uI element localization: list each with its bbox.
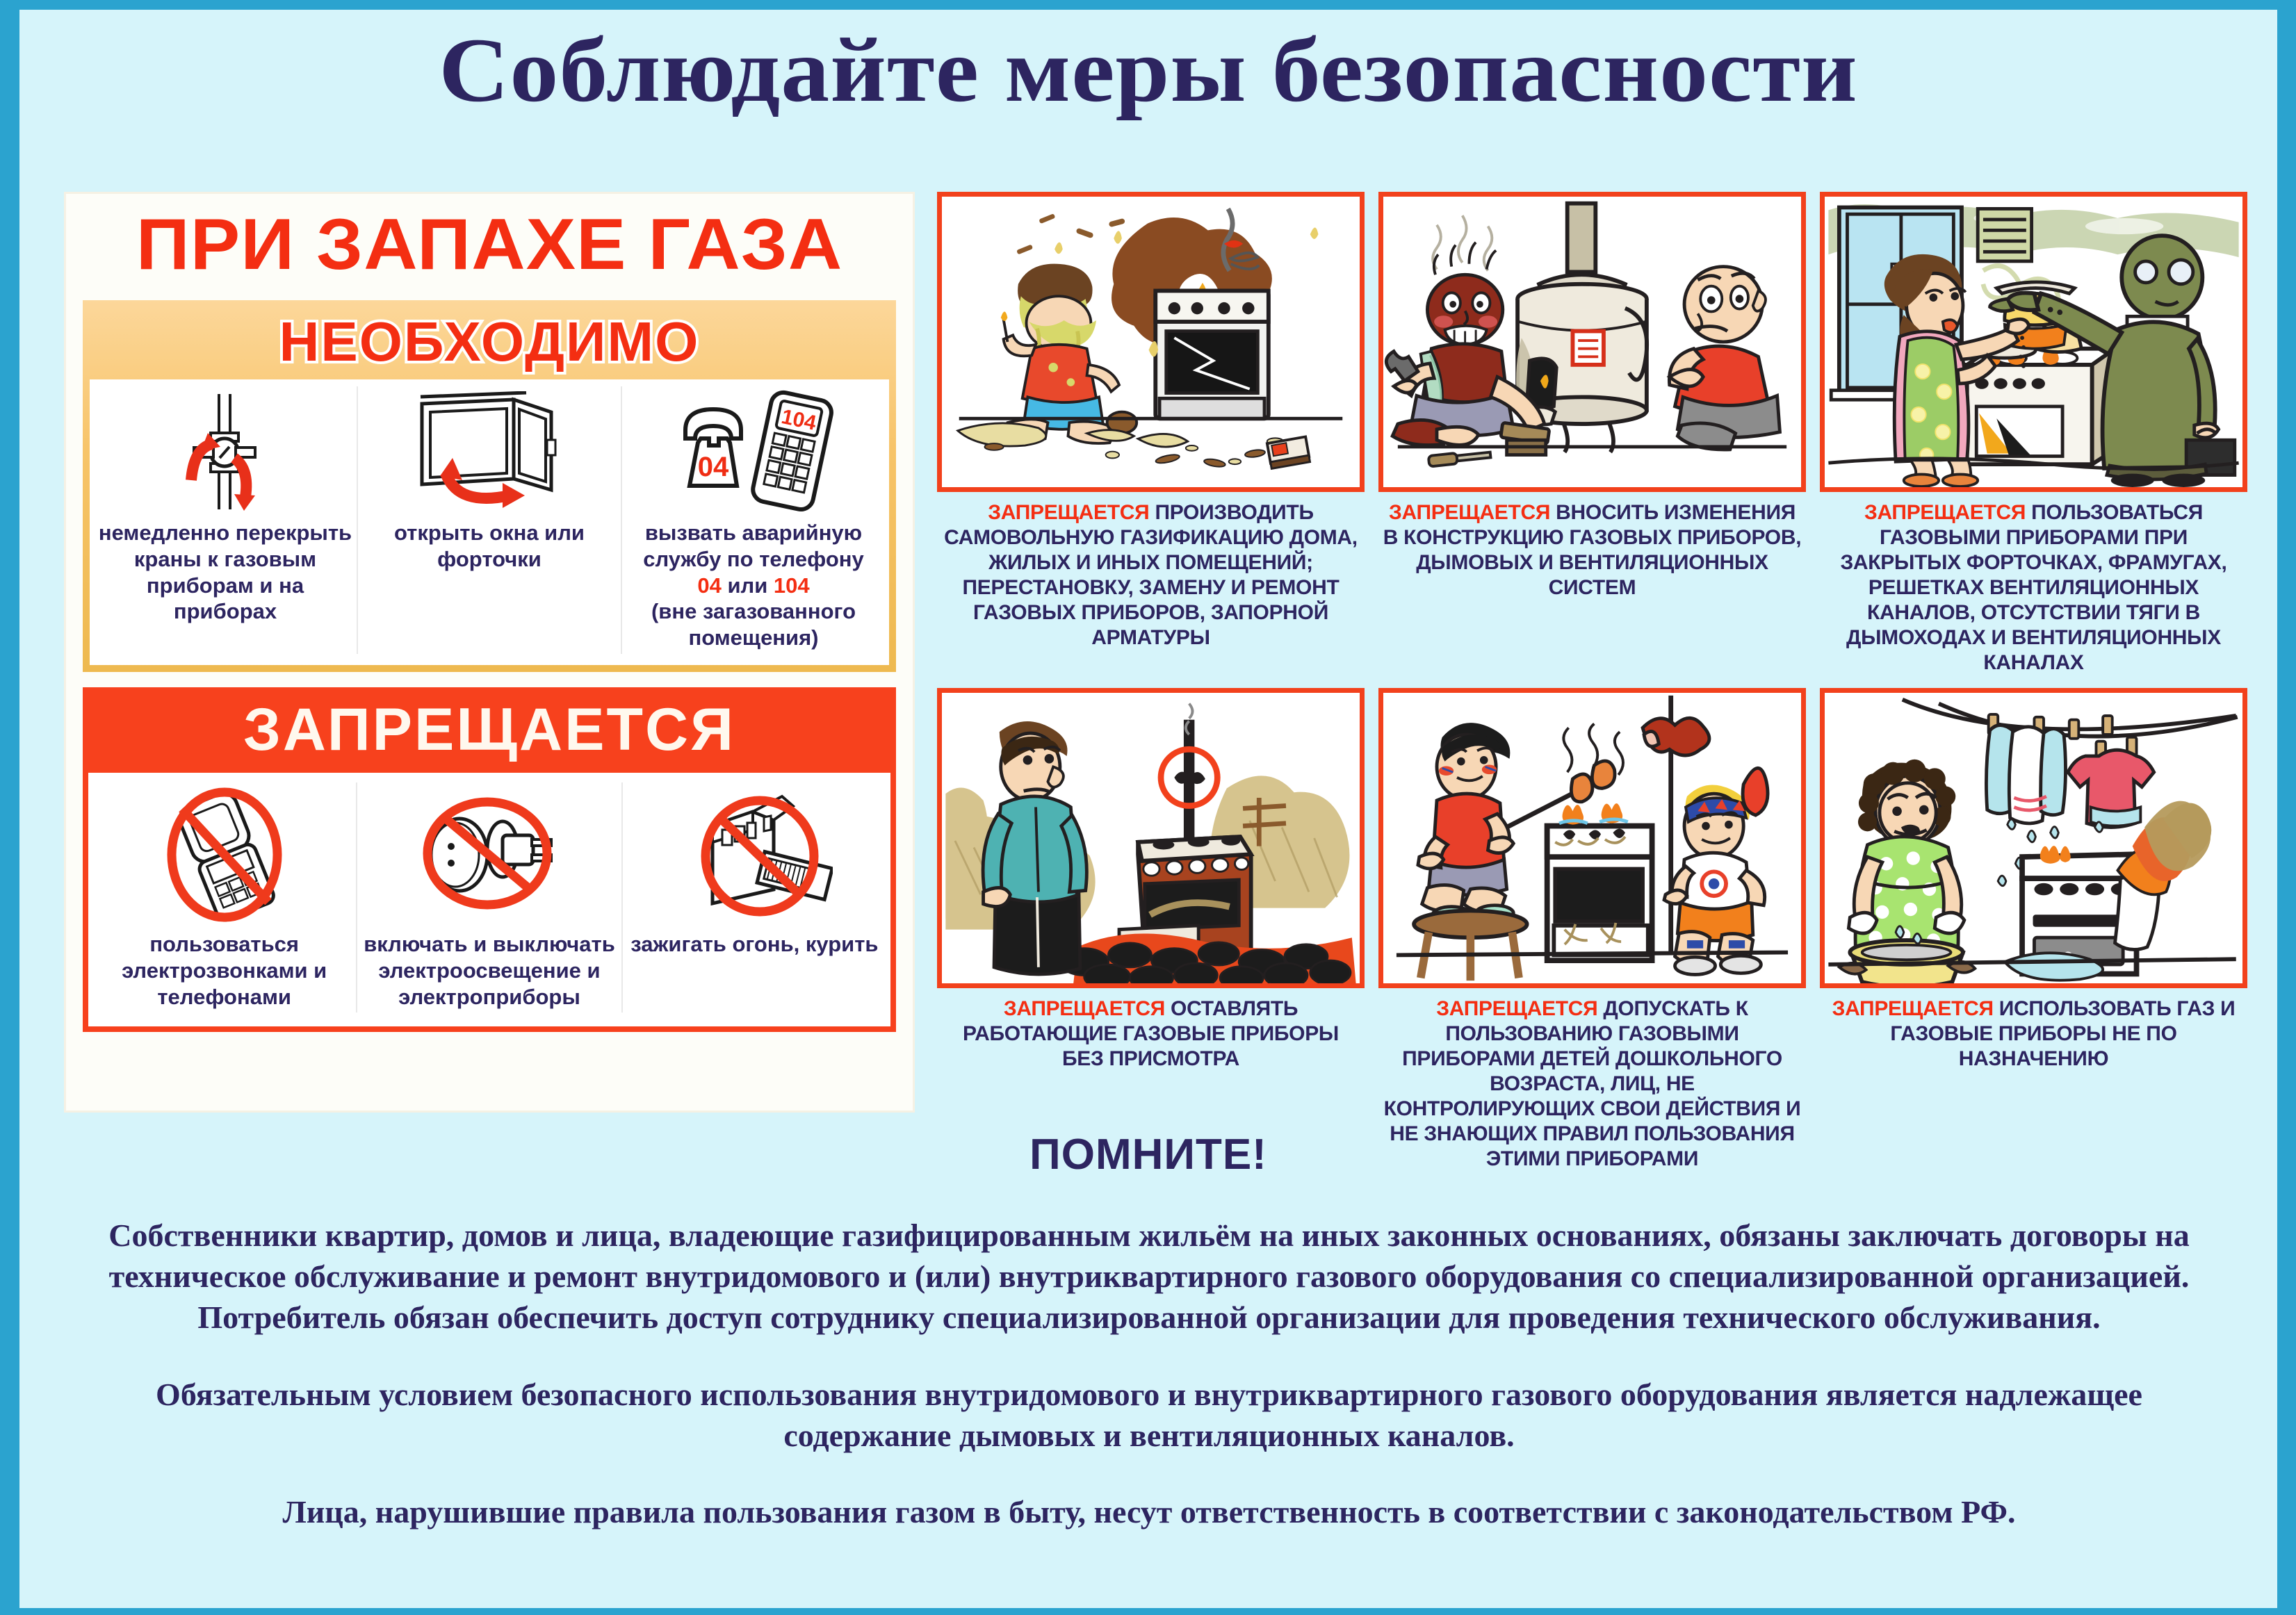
forbidden-keyword: ЗАПРЕЩАЕТСЯ — [1004, 997, 1165, 1020]
man-in-ruins-burnt-stove-illustration — [937, 688, 1365, 988]
no-fire-smoking-icon — [676, 785, 833, 924]
cartoon-caption: ЗАПРЕЩАЕТСЯ ОСТАВЛЯТЬ РАБОТАЮЩИЕ ГАЗОВЫЕ… — [941, 997, 1360, 1072]
woman-cooking-closed-vent-gasmask-man-illustration — [1820, 192, 2247, 492]
angry-man-repairing-boiler-illustration — [1378, 192, 1806, 492]
footer-paragraph-2: Обязательным условием безопасного исполь… — [82, 1375, 2216, 1457]
cartoon-caption: ЗАПРЕЩАЕТСЯ ИСПОЛЬЗОВАТЬ ГАЗ И ГАЗОВЫЕ П… — [1824, 997, 2243, 1072]
cartoon-cell: ЗАПРЕЩАЕТСЯ ПОЛЬЗОВАТЬСЯ ГАЗОВЫМИ ПРИБОР… — [1813, 192, 2254, 688]
emergency-number-04: 04 — [697, 573, 721, 598]
footer-text-block: Собственники квартир, домов и лица, влад… — [82, 1215, 2216, 1569]
forbidden-keyword: ЗАПРЕЩАЕТСЯ — [1832, 997, 1994, 1020]
necessary-item-caption: немедленно перекрыть краны к газовым при… — [98, 520, 352, 625]
forbidden-item-caption: зажигать огонь, курить — [630, 931, 878, 958]
necessary-item-caption: вызвать аварийную службу по телефону 04 … — [626, 520, 881, 651]
safety-poster: Соблюдайте меры безопасности ПРИ ЗАПАХЕ … — [19, 10, 2277, 1608]
forbidden-items-row: пользоваться электрозвонками и телефонам… — [88, 773, 890, 1026]
boy-with-match-exploded-stove-illustration — [937, 192, 1365, 492]
necessary-item-call-emergency: 04 104 — [622, 386, 885, 654]
cartoon-cell: ЗАПРЕЩАЕТСЯ ОСТАВЛЯТЬ РАБОТАЮЩИЕ ГАЗОВЫЕ… — [930, 688, 1371, 1184]
forbidden-keyword: ЗАПРЕЩАЕТСЯ — [988, 501, 1149, 524]
emergency-number-104: 104 — [774, 573, 810, 598]
cartoon-cell: ЗАПРЕЩАЕТСЯ ДОПУСКАТЬ К ПОЛЬЗОВАНИЮ ГАЗО… — [1371, 688, 1813, 1184]
forbidden-keyword: ЗАПРЕЩАЕТСЯ — [1389, 501, 1550, 524]
forbidden-keyword: ЗАПРЕЩАЕТСЯ — [1864, 501, 2026, 524]
forbidden-block: ЗАПРЕЩАЕТСЯ — [83, 687, 896, 1032]
cartoon-caption: ЗАПРЕЩАЕТСЯ ПОЛЬЗОВАТЬСЯ ГАЗОВЫМИ ПРИБОР… — [1824, 500, 2243, 675]
children-roasting-sausages-illustration — [1378, 688, 1806, 988]
cartoon-cell: ЗАПРЕЩАЕТСЯ ПРОИЗВОДИТЬ САМОВОЛЬНУЮ ГАЗИ… — [930, 192, 1371, 688]
forbidden-item-caption: включать и выключать электроосвещение и … — [361, 931, 617, 1010]
open-window-icon — [409, 389, 569, 514]
title-bar: Соблюдайте меры безопасности — [19, 22, 2277, 119]
remember-heading: ПОМНИТЕ! — [19, 1130, 2277, 1179]
woman-drying-laundry-over-stove-illustration — [1820, 688, 2247, 988]
footer-paragraph-3: Лица, нарушившие правила пользования газ… — [82, 1492, 2216, 1533]
necessary-band-label: НЕОБХОДИМО — [90, 307, 889, 379]
forbidden-keyword: ЗАПРЕЩАЕТСЯ — [1436, 997, 1597, 1020]
cartoon-cell: ЗАПРЕЩАЕТСЯ ИСПОЛЬЗОВАТЬ ГАЗ И ГАЗОВЫЕ П… — [1813, 688, 2254, 1184]
telephone-icon: 04 104 — [670, 389, 837, 514]
necessary-item-shut-valves: немедленно перекрыть краны к газовым при… — [94, 386, 358, 654]
gas-valve-icon — [152, 389, 298, 514]
forbidden-item-no-phone: пользоваться электрозвонками и телефонам… — [92, 782, 357, 1013]
conjunction: или — [727, 573, 767, 598]
forbidden-item-no-fire: зажигать огонь, курить — [623, 782, 886, 1013]
forbidden-band-label: ЗАПРЕЩАЕТСЯ — [88, 693, 890, 773]
cartoon-caption-text: ПОЛЬЗОВАТЬСЯ ГАЗОВЫМИ ПРИБОРАМИ ПРИ ЗАКР… — [1840, 501, 2226, 674]
forbidden-item-no-electric: включать и выключать электроосвещение и … — [357, 782, 622, 1013]
cartoon-caption: ЗАПРЕЩАЕТСЯ ПРОИЗВОДИТЬ САМОВОЛЬНУЮ ГАЗИ… — [941, 500, 1360, 650]
cartoon-cell: ЗАПРЕЩАЕТСЯ ВНОСИТЬ ИЗМЕНЕНИЯ В КОНСТРУК… — [1371, 192, 1813, 688]
cartoon-grid: ЗАПРЕЩАЕТСЯ ПРОИЗВОДИТЬ САМОВОЛЬНУЮ ГАЗИ… — [930, 192, 2254, 1184]
necessary-block: НЕОБХОДИМО — [83, 300, 896, 672]
gas-smell-heading: ПРИ ЗАПАХЕ ГАЗА — [54, 194, 926, 290]
call-text-part2: (вне загазованного помещения) — [651, 599, 856, 650]
no-electric-plug-icon — [409, 785, 569, 924]
necessary-item-open-window: открыть окна или форточки — [358, 386, 622, 654]
call-text-part1: вызвать аварийную службу по телефону — [643, 520, 864, 571]
necessary-items-row: немедленно перекрыть краны к газовым при… — [90, 379, 889, 665]
page-title: Соблюдайте меры безопасности — [0, 22, 2296, 119]
footer-paragraph-1: Собственники квартир, домов и лица, влад… — [82, 1215, 2216, 1338]
forbidden-item-caption: пользоваться электрозвонками и телефонам… — [97, 931, 352, 1010]
necessary-item-caption: открыть окна или форточки — [362, 520, 617, 573]
no-mobile-phone-icon — [152, 785, 298, 924]
cartoon-caption: ЗАПРЕЩАЕТСЯ ВНОСИТЬ ИЗМЕНЕНИЯ В КОНСТРУК… — [1383, 500, 1802, 600]
phone-number-04: 04 — [698, 452, 729, 482]
gas-smell-panel: ПРИ ЗАПАХЕ ГАЗА НЕОБХОДИМО — [64, 192, 915, 1113]
